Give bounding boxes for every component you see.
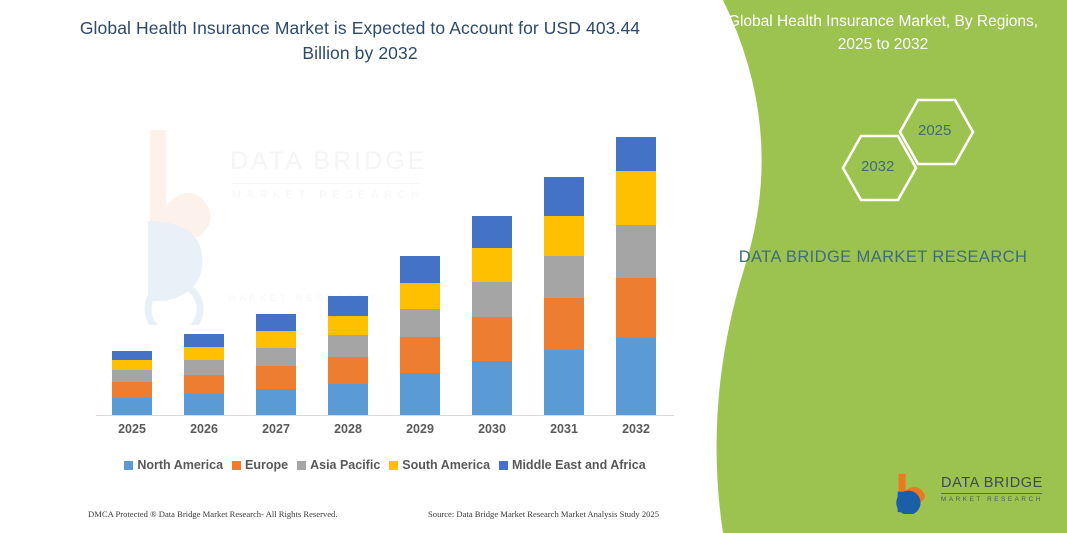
segment-2026-middle-east-and-africa [184, 334, 224, 347]
segment-2029-south-america [400, 283, 440, 309]
segment-2026-north-america [184, 394, 224, 416]
segment-2026-europe [184, 375, 224, 394]
segment-2026-south-america [184, 347, 224, 360]
hex-label-2032: 2032 [861, 158, 894, 175]
segment-2028-south-america [328, 316, 368, 335]
hexagon-group: 2025 2032 [713, 92, 1053, 202]
segment-2032-north-america [616, 338, 656, 416]
segment-2031-europe [544, 298, 584, 350]
x-tick-2030: 2030 [456, 422, 528, 436]
segment-2032-south-america [616, 171, 656, 225]
legend-item-south-america[interactable]: South America [389, 458, 490, 472]
legend-swatch-icon [124, 461, 133, 470]
chart-panel: Global Health Insurance Market is Expect… [0, 0, 720, 533]
x-tick-2027: 2027 [240, 422, 312, 436]
segment-2027-south-america [256, 331, 296, 348]
right-green-panel: Global Health Insurance Market, By Regio… [693, 0, 1067, 533]
segment-2028-europe [328, 357, 368, 384]
logo-subtitle: MARKET RESEARCH [941, 496, 1046, 503]
right-panel-brand: DATA BRIDGE MARKET RESEARCH [713, 245, 1053, 270]
segment-2031-north-america [544, 350, 584, 416]
footer: DMCA Protected ® Data Bridge Market Rese… [88, 506, 688, 522]
bar-2026[interactable] [184, 334, 224, 416]
data-bridge-logo-icon [893, 472, 935, 514]
segment-2031-south-america [544, 216, 584, 256]
logo-text-block: DATA BRIDGE MARKET RESEARCH [941, 475, 1046, 503]
x-tick-2029: 2029 [384, 422, 456, 436]
infographic-page: Global Health Insurance Market is Expect… [0, 0, 1067, 533]
segment-2025-north-america [112, 398, 152, 416]
segment-2030-north-america [472, 361, 512, 416]
x-tick-2031: 2031 [528, 422, 600, 436]
segment-2026-asia-pacific [184, 360, 224, 375]
segment-2027-middle-east-and-africa [256, 314, 296, 331]
footer-source: Source: Data Bridge Market Research Mark… [428, 509, 659, 519]
segment-2030-europe [472, 317, 512, 361]
segment-2025-europe [112, 382, 152, 398]
segment-2025-asia-pacific [112, 370, 152, 382]
legend-swatch-icon [499, 461, 508, 470]
bar-2030[interactable] [472, 216, 512, 416]
plot-area [96, 100, 672, 416]
segment-2028-asia-pacific [328, 335, 368, 357]
x-tick-2032: 2032 [600, 422, 672, 436]
segment-2030-middle-east-and-africa [472, 216, 512, 248]
axis-baseline [96, 415, 674, 416]
segment-2025-south-america [112, 360, 152, 370]
bar-2028[interactable] [328, 296, 368, 416]
brand-logo: DATA BRIDGE MARKET RESEARCH [893, 470, 1043, 516]
segment-2032-europe [616, 278, 656, 338]
x-tick-2028: 2028 [312, 422, 384, 436]
bar-2025[interactable] [112, 351, 152, 416]
segment-2032-middle-east-and-africa [616, 137, 656, 171]
x-tick-2026: 2026 [168, 422, 240, 436]
x-tick-2025: 2025 [96, 422, 168, 436]
legend-label: Europe [245, 458, 288, 472]
bar-2029[interactable] [400, 256, 440, 416]
legend-swatch-icon [389, 461, 398, 470]
legend-item-north-america[interactable]: North America [124, 458, 223, 472]
segment-2028-middle-east-and-africa [328, 296, 368, 316]
legend-item-middle-east-and-africa[interactable]: Middle East and Africa [499, 458, 646, 472]
segment-2027-north-america [256, 389, 296, 416]
segment-2032-asia-pacific [616, 225, 656, 278]
legend-label: Asia Pacific [310, 458, 380, 472]
hexagon-outlines-icon [713, 92, 1053, 202]
segment-2031-middle-east-and-africa [544, 177, 584, 216]
segment-2030-asia-pacific [472, 282, 512, 317]
segment-2029-asia-pacific [400, 309, 440, 337]
segment-2031-asia-pacific [544, 256, 584, 298]
legend-item-europe[interactable]: Europe [232, 458, 288, 472]
legend-swatch-icon [297, 461, 306, 470]
bar-2027[interactable] [256, 314, 296, 416]
bar-2031[interactable] [544, 177, 584, 416]
segment-2029-north-america [400, 373, 440, 416]
x-axis: 20252026202720282029203020312032 [96, 422, 672, 444]
legend-swatch-icon [232, 461, 241, 470]
legend-label: North America [137, 458, 223, 472]
chart-legend: North AmericaEuropeAsia PacificSouth Ame… [96, 455, 674, 475]
segment-2028-north-america [328, 384, 368, 416]
segment-2027-europe [256, 366, 296, 389]
bar-2032[interactable] [616, 137, 656, 416]
legend-item-asia-pacific[interactable]: Asia Pacific [297, 458, 380, 472]
legend-label: Middle East and Africa [512, 458, 646, 472]
segment-2027-asia-pacific [256, 348, 296, 366]
segment-2029-middle-east-and-africa [400, 256, 440, 283]
footer-copyright: DMCA Protected ® Data Bridge Market Rese… [88, 509, 338, 519]
logo-rule [941, 493, 1042, 494]
segment-2030-south-america [472, 248, 512, 282]
segment-2029-europe [400, 337, 440, 373]
chart-title: Global Health Insurance Market is Expect… [60, 16, 660, 66]
logo-title: DATA BRIDGE [941, 475, 1046, 491]
right-panel-title: Global Health Insurance Market, By Regio… [713, 10, 1053, 56]
hex-label-2025: 2025 [918, 122, 951, 139]
legend-label: South America [402, 458, 490, 472]
segment-2025-middle-east-and-africa [112, 351, 152, 360]
